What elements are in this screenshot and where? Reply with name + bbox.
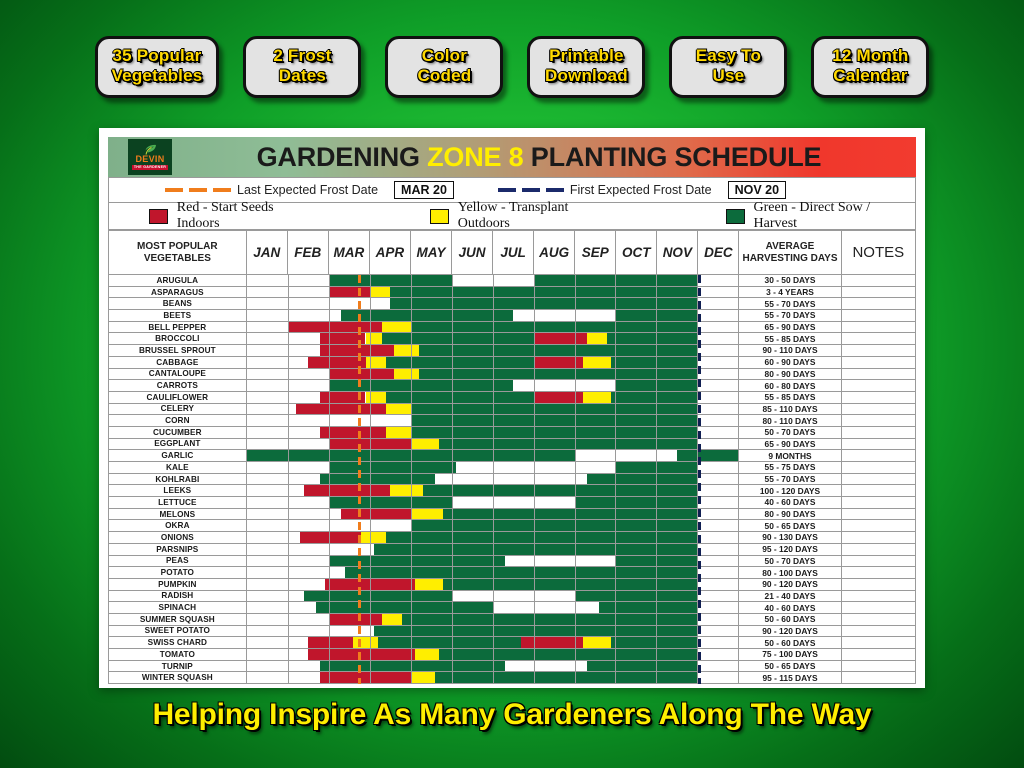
vegetable-name-cell: CANTALOUPE xyxy=(109,368,247,380)
month-gridline xyxy=(452,380,453,391)
month-gridline xyxy=(452,298,453,309)
last-frost-legend-item: Last Expected Frost Date MAR 20 xyxy=(165,181,454,199)
month-gridline xyxy=(697,345,698,356)
poster-title-bar: DEVIN THE GARDENER GARDENING ZONE 8 PLAN… xyxy=(108,137,916,177)
month-gridline xyxy=(575,520,576,531)
month-gridline xyxy=(697,509,698,520)
vegetable-name-cell: ARUGULA xyxy=(109,275,247,287)
month-gridline xyxy=(329,450,330,461)
vegetable-name-cell: LETTUCE xyxy=(109,497,247,509)
month-gridline xyxy=(575,357,576,368)
notes-cell[interactable] xyxy=(841,649,915,661)
color-swatch-icon xyxy=(726,209,745,224)
month-gridline xyxy=(288,462,289,473)
month-gridline xyxy=(411,333,412,344)
month-gridline xyxy=(452,520,453,531)
month-gridline xyxy=(288,415,289,426)
month-gridline xyxy=(370,614,371,625)
table-row: ASPARAGUS3 - 4 YEARS xyxy=(109,286,916,298)
vegetable-name-cell: BEETS xyxy=(109,310,247,322)
month-gridline xyxy=(615,485,616,496)
month-gridline xyxy=(534,345,535,356)
month-gridline xyxy=(656,380,657,391)
timeline-bar-g xyxy=(439,439,697,450)
notes-cell[interactable] xyxy=(841,438,915,450)
harvest-days-cell: 55 - 75 DAYS xyxy=(739,462,841,474)
month-gridline xyxy=(370,287,371,298)
harvest-days-cell: 80 - 90 DAYS xyxy=(739,508,841,520)
month-gridline xyxy=(329,275,330,286)
planting-timeline-cell xyxy=(246,602,739,614)
month-gridline xyxy=(329,509,330,520)
month-gridline xyxy=(452,672,453,683)
month-gridline xyxy=(493,672,494,683)
harvest-days-cell: 95 - 115 DAYS xyxy=(739,672,841,684)
month-gridline xyxy=(697,310,698,321)
timeline-bar-y xyxy=(366,357,386,368)
month-gridline xyxy=(534,497,535,508)
month-gridline xyxy=(288,626,289,637)
table-row: BRUSSEL SPROUT90 - 110 DAYS xyxy=(109,345,916,357)
month-gridline xyxy=(615,497,616,508)
month-gridline xyxy=(452,275,453,286)
month-gridline xyxy=(656,439,657,450)
month-gridline xyxy=(656,404,657,415)
month-gridline xyxy=(656,556,657,567)
month-gridline xyxy=(615,322,616,333)
month-gridline xyxy=(288,520,289,531)
month-gridline xyxy=(575,392,576,403)
month-gridline xyxy=(452,322,453,333)
timeline-bar-g xyxy=(402,614,697,625)
timeline-bar-g xyxy=(677,450,738,461)
month-gridline xyxy=(615,392,616,403)
planting-timeline-cell xyxy=(246,286,739,298)
month-gridline xyxy=(288,404,289,415)
planting-timeline-cell xyxy=(246,590,739,602)
month-gridline xyxy=(493,602,494,613)
month-gridline xyxy=(411,579,412,590)
month-gridline xyxy=(493,415,494,426)
month-gridline xyxy=(697,614,698,625)
month-gridline xyxy=(615,602,616,613)
timeline-bar-g xyxy=(329,275,452,286)
month-gridline xyxy=(697,322,698,333)
month-gridline xyxy=(411,369,412,380)
month-gridline xyxy=(656,614,657,625)
harvest-days-cell: 90 - 120 DAYS xyxy=(739,625,841,637)
planting-timeline-cell xyxy=(246,649,739,661)
month-gridline xyxy=(411,649,412,660)
month-gridline xyxy=(697,591,698,602)
planting-timeline-cell xyxy=(246,462,739,474)
month-gridline xyxy=(370,532,371,543)
month-gridline xyxy=(370,345,371,356)
month-gridline xyxy=(329,333,330,344)
month-gridline xyxy=(329,485,330,496)
notes-cell[interactable] xyxy=(841,613,915,625)
col-header-notes: NOTES xyxy=(841,231,915,275)
vegetable-name-cell: SWEET POTATO xyxy=(109,625,247,637)
month-gridline xyxy=(534,404,535,415)
last-frost-date: MAR 20 xyxy=(394,181,454,199)
month-gridline xyxy=(493,345,494,356)
notes-cell[interactable] xyxy=(841,356,915,368)
month-gridline xyxy=(534,275,535,286)
month-gridline xyxy=(329,439,330,450)
notes-cell[interactable] xyxy=(841,637,915,649)
table-row: LETTUCE40 - 60 DAYS xyxy=(109,497,916,509)
month-gridline xyxy=(534,287,535,298)
month-gridline xyxy=(615,310,616,321)
month-gridline xyxy=(656,579,657,590)
month-gridline xyxy=(615,275,616,286)
timeline-bar-r xyxy=(308,649,415,660)
harvest-days-cell: 75 - 100 DAYS xyxy=(739,649,841,661)
timeline-bar-y xyxy=(366,392,386,403)
notes-cell[interactable] xyxy=(841,368,915,380)
month-gridline xyxy=(411,567,412,578)
color-swatch-icon xyxy=(149,209,168,224)
month-gridline xyxy=(452,497,453,508)
month-gridline xyxy=(656,474,657,485)
notes-cell[interactable] xyxy=(841,286,915,298)
month-gridline xyxy=(329,404,330,415)
month-gridline xyxy=(575,450,576,461)
month-gridline xyxy=(697,532,698,543)
month-gridline xyxy=(575,614,576,625)
badge-line-2: Vegetables xyxy=(112,66,203,86)
month-gridline xyxy=(534,474,535,485)
month-gridline xyxy=(697,567,698,578)
vegetable-name-cell: ONIONS xyxy=(109,532,247,544)
month-gridline xyxy=(370,591,371,602)
notes-cell[interactable] xyxy=(841,485,915,497)
month-gridline xyxy=(493,392,494,403)
dash-navy-icon xyxy=(498,188,516,192)
month-gridline xyxy=(329,287,330,298)
feature-badge: 35 PopularVegetables xyxy=(95,36,220,98)
month-gridline xyxy=(452,579,453,590)
month-gridline xyxy=(370,544,371,555)
vegetable-name-cell: PUMPKIN xyxy=(109,578,247,590)
table-row: LEEKS100 - 120 DAYS xyxy=(109,485,916,497)
month-gridline xyxy=(411,614,412,625)
month-gridline xyxy=(575,649,576,660)
month-gridline xyxy=(656,509,657,520)
month-gridline xyxy=(697,544,698,555)
month-gridline xyxy=(615,532,616,543)
notes-cell[interactable] xyxy=(841,321,915,333)
notes-cell[interactable] xyxy=(841,660,915,672)
notes-cell[interactable] xyxy=(841,672,915,684)
timeline-bar-r xyxy=(300,532,361,543)
month-gridline xyxy=(615,369,616,380)
vegetable-name-cell: CAULIFLOWER xyxy=(109,391,247,403)
month-gridline xyxy=(288,649,289,660)
planting-timeline-cell xyxy=(246,543,739,555)
month-gridline xyxy=(370,357,371,368)
month-gridline xyxy=(656,357,657,368)
col-header-jun: JUN xyxy=(451,231,492,275)
vegetable-name-cell: CORN xyxy=(109,415,247,427)
month-gridline xyxy=(452,474,453,485)
month-gridline xyxy=(411,357,412,368)
month-gridline xyxy=(493,637,494,648)
notes-cell[interactable] xyxy=(841,590,915,602)
notes-cell[interactable] xyxy=(841,532,915,544)
month-gridline xyxy=(534,626,535,637)
month-gridline xyxy=(575,591,576,602)
month-gridline xyxy=(288,532,289,543)
timeline-bar-g xyxy=(304,591,452,602)
month-gridline xyxy=(534,427,535,438)
planting-timeline-cell xyxy=(246,450,739,462)
timeline-bar-g xyxy=(411,322,698,333)
timeline-bar-g xyxy=(329,462,456,473)
month-gridline xyxy=(697,357,698,368)
badge-line-1: 2 Frost xyxy=(260,46,344,66)
planting-timeline-cell xyxy=(246,345,739,357)
harvest-days-cell: 90 - 130 DAYS xyxy=(739,532,841,544)
notes-cell[interactable] xyxy=(841,310,915,322)
month-gridline xyxy=(370,322,371,333)
month-gridline xyxy=(288,567,289,578)
month-gridline xyxy=(656,520,657,531)
color-legend-label: Yellow - Transplant Outdoors xyxy=(458,200,622,232)
month-gridline xyxy=(452,310,453,321)
color-key-legend: Red - Start Seeds IndoorsYellow - Transp… xyxy=(108,203,916,230)
month-gridline xyxy=(329,474,330,485)
vegetable-name-cell: EGGPLANT xyxy=(109,438,247,450)
feature-badge: 2 FrostDates xyxy=(243,36,361,98)
table-row: BEANS55 - 70 DAYS xyxy=(109,298,916,310)
table-row: EGGPLANT65 - 90 DAYS xyxy=(109,438,916,450)
notes-cell[interactable] xyxy=(841,567,915,579)
month-gridline xyxy=(615,626,616,637)
planting-timeline-cell xyxy=(246,310,739,322)
month-gridline xyxy=(370,404,371,415)
notes-cell[interactable] xyxy=(841,298,915,310)
timeline-bar-g xyxy=(320,474,435,485)
month-gridline xyxy=(697,637,698,648)
month-gridline xyxy=(452,404,453,415)
notes-cell[interactable] xyxy=(841,497,915,509)
month-gridline xyxy=(656,427,657,438)
month-gridline xyxy=(288,485,289,496)
month-gridline xyxy=(575,661,576,672)
notes-cell[interactable] xyxy=(841,345,915,357)
month-gridline xyxy=(534,439,535,450)
col-header-jul: JUL xyxy=(493,231,534,275)
harvest-days-cell: 50 - 60 DAYS xyxy=(739,613,841,625)
month-gridline xyxy=(575,439,576,450)
month-gridline xyxy=(493,544,494,555)
timeline-bar-g xyxy=(599,602,697,613)
month-gridline xyxy=(575,485,576,496)
schedule-grid-wrapper: MOST POPULAR VEGETABLES JAN FEB MAR APR … xyxy=(108,230,916,684)
timeline-bar-g xyxy=(411,404,698,415)
planting-timeline-cell xyxy=(246,356,739,368)
timeline-bar-y xyxy=(382,322,411,333)
month-gridline xyxy=(288,310,289,321)
notes-cell[interactable] xyxy=(841,625,915,637)
month-gridline xyxy=(411,661,412,672)
notes-cell[interactable] xyxy=(841,520,915,532)
table-row: PUMPKIN90 - 120 DAYS xyxy=(109,578,916,590)
month-gridline xyxy=(615,357,616,368)
notes-cell[interactable] xyxy=(841,473,915,485)
notes-cell[interactable] xyxy=(841,543,915,555)
col-header-apr: APR xyxy=(369,231,410,275)
timeline-bar-g xyxy=(329,380,513,391)
month-gridline xyxy=(452,532,453,543)
notes-cell[interactable] xyxy=(841,508,915,520)
harvest-days-cell: 40 - 60 DAYS xyxy=(739,497,841,509)
timeline-bar-r xyxy=(341,509,411,520)
timeline-bar-g xyxy=(329,556,505,567)
month-gridline xyxy=(575,474,576,485)
month-gridline xyxy=(329,532,330,543)
month-gridline xyxy=(615,345,616,356)
col-header-dec: DEC xyxy=(698,231,739,275)
month-gridline xyxy=(575,380,576,391)
month-gridline xyxy=(288,380,289,391)
month-gridline xyxy=(370,672,371,683)
notes-cell[interactable] xyxy=(841,403,915,415)
col-header-nov: NOV xyxy=(657,231,698,275)
badge-line-2: Calendar xyxy=(828,66,912,86)
planting-timeline-cell xyxy=(246,520,739,532)
month-gridline xyxy=(534,380,535,391)
month-gridline xyxy=(697,462,698,473)
harvest-days-cell: 3 - 4 YEARS xyxy=(739,286,841,298)
month-gridline xyxy=(411,275,412,286)
table-row: OKRA50 - 65 DAYS xyxy=(109,520,916,532)
notes-cell[interactable] xyxy=(841,275,915,287)
month-gridline xyxy=(493,532,494,543)
notes-cell[interactable] xyxy=(841,450,915,462)
color-legend-item: Red - Start Seeds Indoors xyxy=(149,200,318,232)
vegetable-name-cell: WINTER SQUASH xyxy=(109,672,247,684)
month-gridline xyxy=(493,509,494,520)
month-gridline xyxy=(615,474,616,485)
timeline-bar-g xyxy=(374,626,698,637)
notes-cell[interactable] xyxy=(841,380,915,392)
feature-badge: PrintableDownload xyxy=(527,36,645,98)
planting-timeline-cell xyxy=(246,298,739,310)
timeline-bar-y xyxy=(394,369,419,380)
month-gridline xyxy=(534,661,535,672)
first-frost-label: First Expected Frost Date xyxy=(570,183,712,197)
month-gridline xyxy=(329,567,330,578)
month-gridline xyxy=(411,591,412,602)
first-frost-legend-item: First Expected Frost Date NOV 20 xyxy=(498,181,786,199)
month-gridline xyxy=(411,287,412,298)
month-gridline xyxy=(656,672,657,683)
month-gridline xyxy=(534,532,535,543)
table-row: CORN80 - 110 DAYS xyxy=(109,415,916,427)
notes-cell[interactable] xyxy=(841,426,915,438)
notes-cell[interactable] xyxy=(841,555,915,567)
notes-cell[interactable] xyxy=(841,391,915,403)
timeline-bar-y xyxy=(411,672,436,683)
month-gridline xyxy=(575,626,576,637)
planting-timeline-cell xyxy=(246,497,739,509)
harvest-days-cell: 85 - 110 DAYS xyxy=(739,403,841,415)
month-gridline xyxy=(411,345,412,356)
month-gridline xyxy=(493,369,494,380)
month-gridline xyxy=(615,579,616,590)
table-row: CUCUMBER50 - 70 DAYS xyxy=(109,426,916,438)
month-gridline xyxy=(615,287,616,298)
month-gridline xyxy=(411,427,412,438)
vegetable-name-cell: MELONS xyxy=(109,508,247,520)
month-gridline xyxy=(411,497,412,508)
table-row: CARROTS60 - 80 DAYS xyxy=(109,380,916,392)
month-gridline xyxy=(575,672,576,683)
month-gridline xyxy=(370,333,371,344)
notes-cell[interactable] xyxy=(841,333,915,345)
month-gridline xyxy=(452,649,453,660)
timeline-bar-g xyxy=(443,579,697,590)
month-gridline xyxy=(288,298,289,309)
timeline-bar-g xyxy=(435,672,697,683)
month-gridline xyxy=(288,614,289,625)
notes-cell[interactable] xyxy=(841,462,915,474)
table-body: ARUGULA30 - 50 DAYSASPARAGUS3 - 4 YEARSB… xyxy=(109,275,916,684)
month-gridline xyxy=(370,509,371,520)
month-gridline xyxy=(452,357,453,368)
month-gridline xyxy=(534,544,535,555)
vegetable-name-cell: KOHLRABI xyxy=(109,473,247,485)
month-gridline xyxy=(575,415,576,426)
month-gridline xyxy=(615,661,616,672)
timeline-bar-g xyxy=(390,287,697,298)
month-gridline xyxy=(534,579,535,590)
notes-cell[interactable] xyxy=(841,415,915,427)
month-gridline xyxy=(452,369,453,380)
month-gridline xyxy=(288,672,289,683)
month-gridline xyxy=(329,579,330,590)
timeline-bar-r xyxy=(329,614,382,625)
planting-timeline-cell xyxy=(246,333,739,345)
title-pre: GARDENING xyxy=(257,142,428,172)
notes-cell[interactable] xyxy=(841,578,915,590)
col-header-average-harvesting-days: AVERAGE HARVESTING DAYS xyxy=(739,231,841,275)
month-gridline xyxy=(697,404,698,415)
notes-cell[interactable] xyxy=(841,602,915,614)
month-gridline xyxy=(329,602,330,613)
month-gridline xyxy=(656,544,657,555)
timeline-bar-g xyxy=(575,591,698,602)
table-row: POTATO80 - 100 DAYS xyxy=(109,567,916,579)
month-gridline xyxy=(370,637,371,648)
month-gridline xyxy=(656,415,657,426)
month-gridline xyxy=(452,509,453,520)
month-gridline xyxy=(411,509,412,520)
vegetable-name-cell: SUMMER SQUASH xyxy=(109,613,247,625)
month-gridline xyxy=(615,649,616,660)
vegetable-name-cell: PEAS xyxy=(109,555,247,567)
col-header-mar: MAR xyxy=(328,231,369,275)
badge-line-2: Dates xyxy=(260,66,344,86)
month-gridline xyxy=(493,310,494,321)
planting-timeline-cell xyxy=(246,660,739,672)
month-gridline xyxy=(288,497,289,508)
month-gridline xyxy=(493,556,494,567)
month-gridline xyxy=(452,544,453,555)
